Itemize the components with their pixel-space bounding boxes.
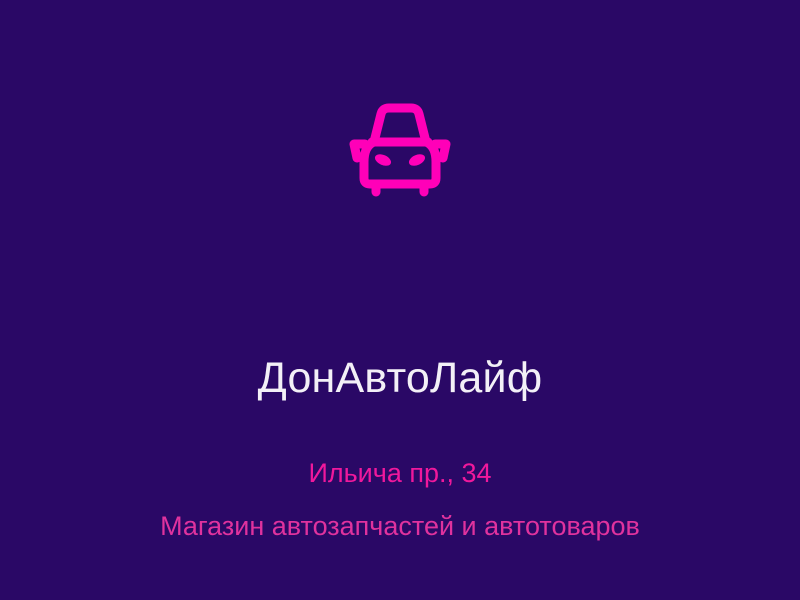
car-front-icon: [348, 100, 452, 198]
text-block: ДонАвтоЛайф Ильича пр., 34 Магазин автоз…: [0, 352, 800, 543]
splash-screen: ДонАвтоЛайф Ильича пр., 34 Магазин автоз…: [0, 0, 800, 600]
address-line: Ильича пр., 34: [308, 456, 491, 490]
page-title: ДонАвтоЛайф: [258, 352, 543, 404]
brand-logo: [0, 100, 800, 198]
description-line: Магазин автозапчастей и автотоваров: [160, 509, 640, 543]
